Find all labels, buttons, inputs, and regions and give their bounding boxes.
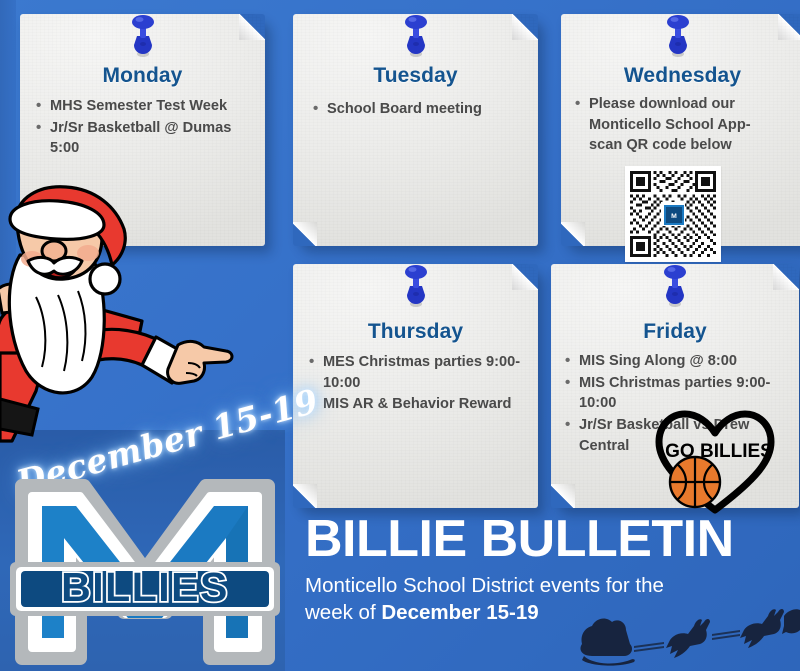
santa-pointing-icon	[0, 185, 240, 445]
sleigh-decoration	[578, 600, 800, 668]
billies-wordmark: BILLIES BILLIES	[10, 562, 280, 616]
banner-subtitle-date: December 15-19	[381, 601, 538, 624]
day-title: Thursday	[293, 320, 538, 344]
qr-code[interactable]: M	[625, 166, 721, 262]
day-items: Please download our Monticello School Ap…	[561, 94, 800, 157]
day-title: Wednesday	[561, 64, 800, 88]
santa-sleigh-reindeer-icon	[578, 600, 800, 668]
pushpin-icon	[658, 262, 692, 308]
basketball-icon	[670, 457, 720, 507]
list-item: MHS Semester Test Week	[50, 96, 251, 117]
go-billies-text: GO BILLIES	[665, 441, 773, 462]
billies-logo: BILLIES BILLIES	[6, 466, 284, 671]
day-items: MES Christmas parties 9:00-10:00 MIS AR …	[293, 352, 536, 416]
day-card-tuesday: Tuesday School Board meeting	[293, 14, 538, 246]
day-title: Monday	[20, 64, 265, 88]
heart-basketball-icon: GO BILLIES	[653, 406, 778, 516]
day-title: Friday	[551, 320, 799, 344]
billies-m-logo: M	[661, 202, 685, 226]
pushpin-icon	[661, 12, 695, 58]
day-card-thursday: Thursday MES Christmas parties 9:00-10:0…	[293, 264, 538, 508]
bulletin-graphic: Monday MHS Semester Test Week Jr/Sr Bask…	[0, 0, 800, 671]
day-title: Tuesday	[293, 64, 538, 88]
qr-code-icon: M	[630, 171, 716, 257]
list-item: Jr/Sr Basketball @ Dumas 5:00	[50, 118, 251, 159]
day-card-friday: Friday MIS Sing Along @ 8:00 MIS Christm…	[551, 264, 799, 508]
svg-text:M: M	[671, 213, 677, 220]
day-items: MHS Semester Test Week Jr/Sr Basketball …	[20, 96, 265, 160]
list-item: MIS AR & Behavior Reward	[323, 394, 522, 415]
list-item: Please download our Monticello School Ap…	[589, 94, 786, 156]
monticello-m-billies-logo: BILLIES BILLIES	[6, 466, 284, 671]
svg-text:BILLIES: BILLIES	[61, 564, 229, 610]
list-item: MES Christmas parties 9:00-10:00	[323, 352, 522, 393]
day-card-wednesday: Wednesday Please download our Monticello…	[561, 14, 800, 246]
pushpin-icon	[399, 262, 433, 308]
list-item: School Board meeting	[327, 99, 524, 120]
go-billies-badge: GO BILLIES	[653, 406, 778, 516]
list-item: MIS Sing Along @ 8:00	[579, 351, 783, 372]
pushpin-icon	[399, 12, 433, 58]
banner-title: BILLIE BULLETIN	[305, 513, 785, 565]
day-items: School Board meeting	[293, 99, 538, 121]
pushpin-icon	[126, 12, 160, 58]
santa-figure	[0, 185, 240, 445]
